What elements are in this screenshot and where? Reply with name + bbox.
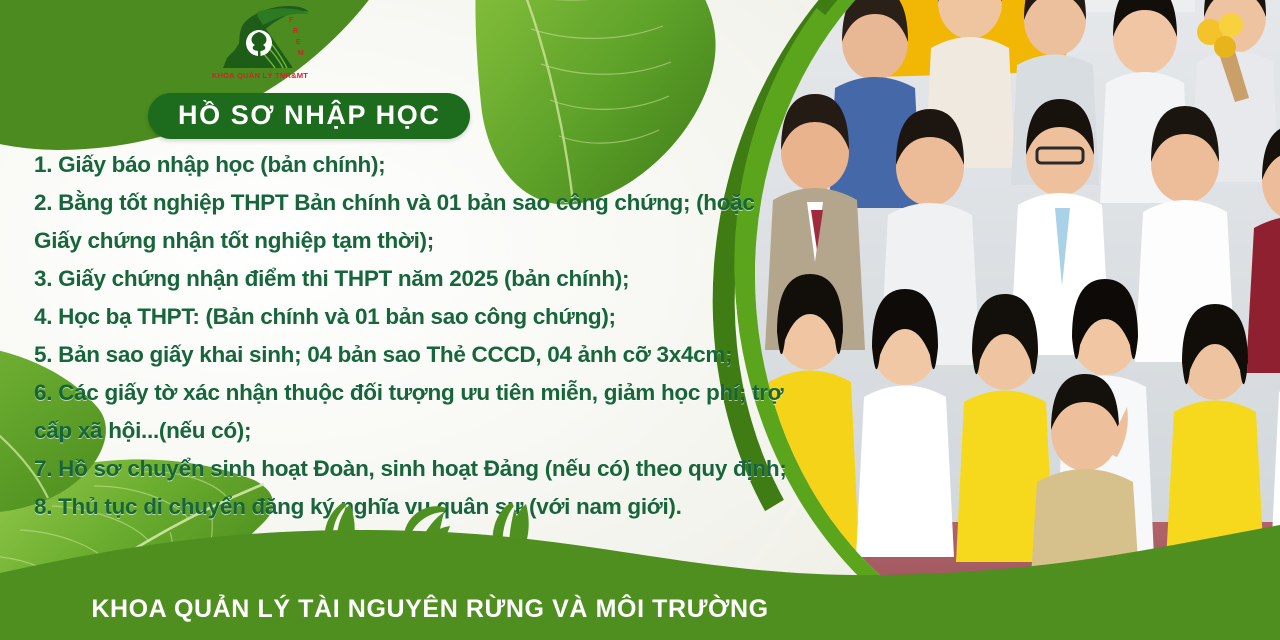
footer-banner-text: KHOA QUẢN LÝ TÀI NGUYÊN RỪNG VÀ MÔI TRƯỜ… — [0, 595, 860, 624]
department-logo: F R E M KHOA QUẢN LÝ TNR&MT — [205, 6, 315, 86]
list-item: 4. Học bạ THPT: (Bản chính và 01 bản sao… — [34, 298, 774, 336]
list-item: 3. Giấy chứng nhận điểm thi THPT năm 202… — [34, 260, 774, 298]
svg-text:M: M — [298, 50, 304, 57]
list-item: 7. Hồ sơ chuyển sinh hoạt Đoàn, sinh hoạ… — [34, 450, 774, 488]
svg-text:F: F — [289, 17, 294, 24]
list-item-continuation: Giấy chứng nhận tốt nghiệp tạm thời); — [34, 222, 774, 260]
list-item: 1. Giấy báo nhập học (bản chính); — [34, 146, 774, 184]
list-item-continuation: cấp xã hội...(nếu có); — [34, 412, 774, 450]
poster-canvas: F R E M KHOA QUẢN LÝ TNR&MT HỒ SƠ NHẬP H… — [0, 0, 1280, 640]
svg-text:E: E — [296, 39, 301, 46]
title-badge: HỒ SƠ NHẬP HỌC — [148, 93, 470, 139]
logo-brand-text: KHOA QUẢN LÝ TNR&MT — [212, 71, 308, 80]
requirements-list: 1. Giấy báo nhập học (bản chính); 2. Bằn… — [34, 146, 774, 526]
footer-banner: KHOA QUẢN LÝ TÀI NGUYÊN RỪNG VÀ MÔI TRƯỜ… — [0, 525, 1280, 640]
svg-text:R: R — [293, 28, 298, 35]
list-item: 5. Bản sao giấy khai sinh; 04 bản sao Th… — [34, 336, 774, 374]
list-item: 2. Bằng tốt nghiệp THPT Bản chính và 01 … — [34, 184, 774, 222]
list-item: 6. Các giấy tờ xác nhận thuộc đối tượng … — [34, 374, 774, 412]
